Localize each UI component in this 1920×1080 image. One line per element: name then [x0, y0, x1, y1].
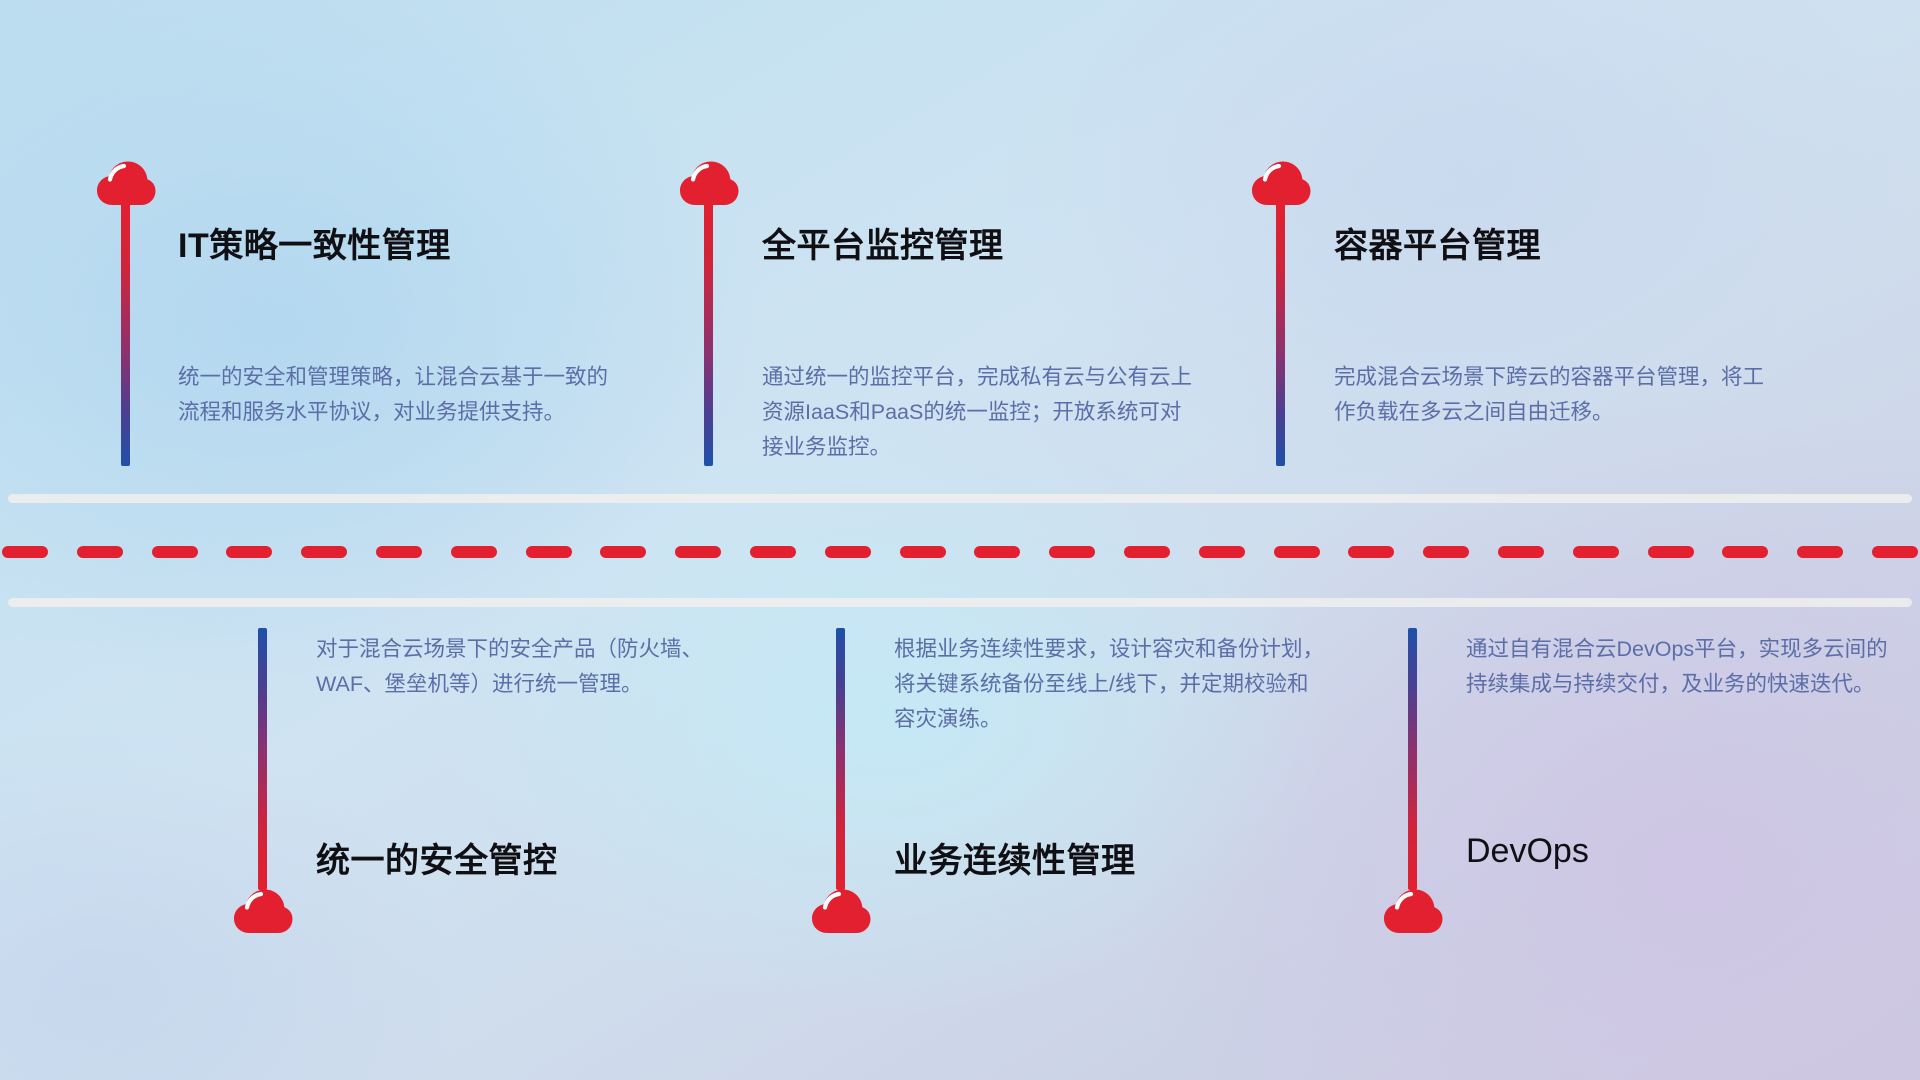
bottom-item-body: 通过自有混合云DevOps平台，实现多云间的持续集成与持续交付，及业务的快速迭代… — [1466, 632, 1896, 702]
road-dash — [526, 546, 572, 558]
top-item-title: 容器平台管理 — [1334, 218, 1541, 267]
road-dash — [376, 546, 422, 558]
top-item-body: 通过统一的监控平台，完成私有云与公有云上资源IaaS和PaaS的统一监控；开放系… — [762, 360, 1192, 464]
pin-stem — [1408, 628, 1417, 890]
road-dash — [1722, 546, 1768, 558]
cloud-icon — [95, 160, 157, 206]
cloud-icon — [1382, 888, 1444, 934]
bottom-item-title: 业务连续性管理 — [894, 833, 1136, 882]
road-dash — [600, 546, 646, 558]
road-dash — [1124, 546, 1170, 558]
road-dashed-centerline — [0, 546, 1920, 558]
road-dash — [1872, 546, 1918, 558]
top-item-title: IT策略一致性管理 — [178, 218, 451, 267]
road-dash — [1274, 546, 1320, 558]
bottom-item-title: DevOps — [1466, 832, 1589, 871]
infographic-canvas: IT策略一致性管理 统一的安全和管理策略，让混合云基于一致的流程和服务水平协议，… — [0, 0, 1920, 1080]
road-dash — [1199, 546, 1245, 558]
road-dash — [825, 546, 871, 558]
pin-stem — [704, 203, 713, 466]
cloud-icon — [1250, 160, 1312, 206]
road-dash — [226, 546, 272, 558]
road-dash — [451, 546, 497, 558]
road-dash — [675, 546, 721, 558]
cloud-icon — [232, 888, 294, 934]
road-dash — [152, 546, 198, 558]
pin-stem — [121, 203, 130, 466]
bottom-item-title: 统一的安全管控 — [316, 833, 558, 882]
road-dash — [1573, 546, 1619, 558]
pin-stem — [836, 628, 845, 890]
lower-rail — [8, 598, 1912, 607]
road-dash — [1498, 546, 1544, 558]
road-dash — [900, 546, 946, 558]
road-dash — [301, 546, 347, 558]
road-dash — [77, 546, 123, 558]
road-dash — [1348, 546, 1394, 558]
road-dash — [2, 546, 48, 558]
cloud-icon — [810, 888, 872, 934]
road-dash — [1648, 546, 1694, 558]
bottom-item-body: 对于混合云场景下的安全产品（防火墙、WAF、堡垒机等）进行统一管理。 — [316, 632, 746, 702]
road-dash — [1049, 546, 1095, 558]
cloud-icon — [678, 160, 740, 206]
road-dash — [1797, 546, 1843, 558]
road-dash — [1423, 546, 1469, 558]
top-item-body: 统一的安全和管理策略，让混合云基于一致的流程和服务水平协议，对业务提供支持。 — [178, 360, 608, 430]
top-item-title: 全平台监控管理 — [762, 218, 1004, 267]
pin-stem — [258, 628, 267, 890]
road-dash — [750, 546, 796, 558]
pin-stem — [1276, 203, 1285, 466]
bottom-item-body: 根据业务连续性要求，设计容灾和备份计划，将关键系统备份至线上/线下，并定期校验和… — [894, 632, 1324, 736]
road-dash — [974, 546, 1020, 558]
upper-rail — [8, 494, 1912, 503]
top-item-body: 完成混合云场景下跨云的容器平台管理，将工作负载在多云之间自由迁移。 — [1334, 360, 1764, 430]
